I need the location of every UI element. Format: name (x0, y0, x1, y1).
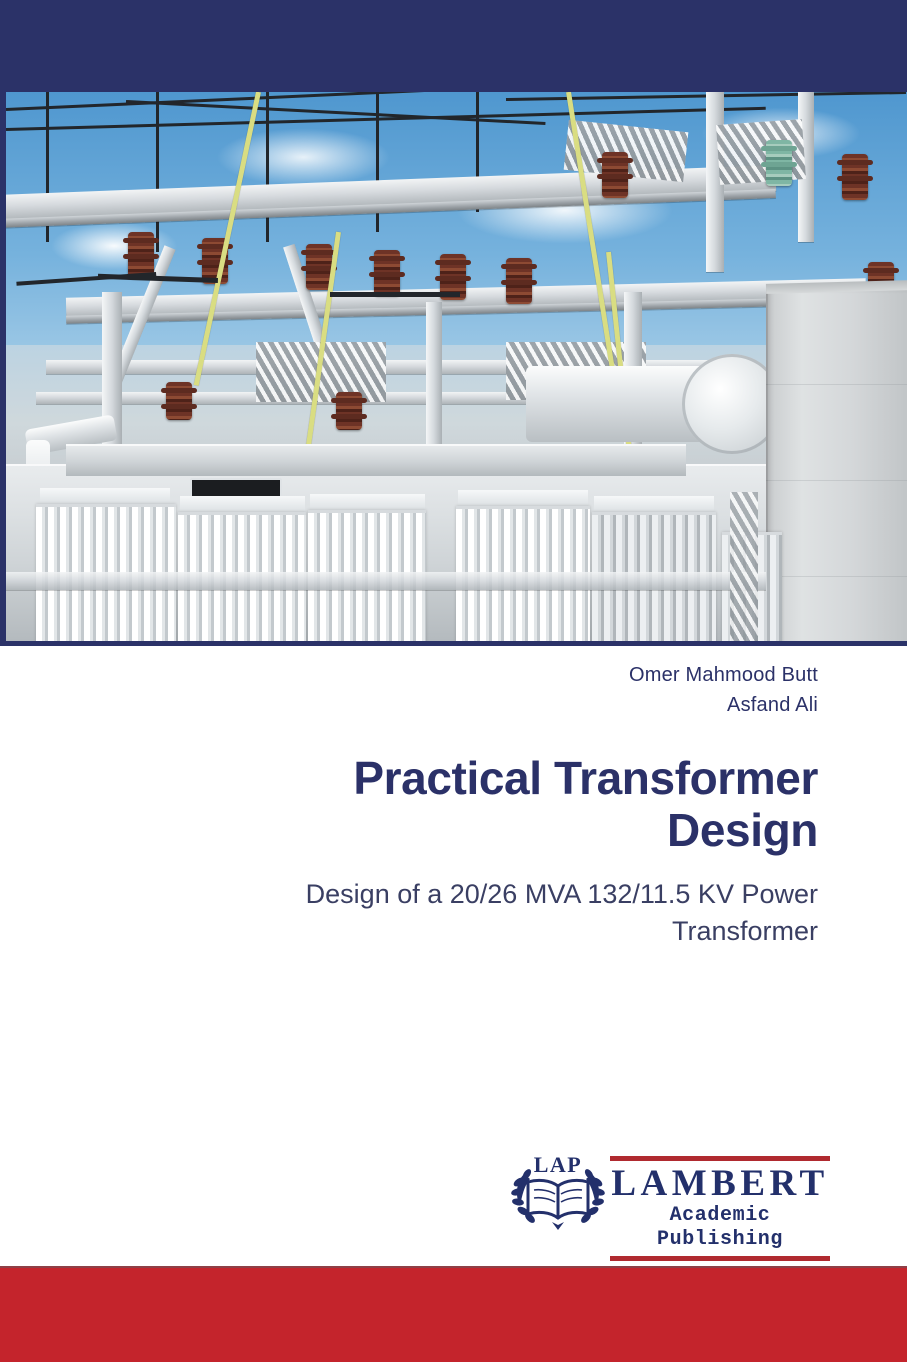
ceramic-insulator (166, 382, 192, 420)
lap-book-laurel-emblem: LAP (510, 1152, 606, 1232)
ceramic-insulator (374, 250, 400, 296)
lap-emblem-text: LAP (534, 1152, 583, 1177)
drop-lead (330, 292, 460, 297)
publisher-name: LAMBERT (610, 1164, 830, 1204)
cover-text-block: Omer Mahmood Butt Asfand Ali Practical T… (0, 660, 818, 950)
transformer-support-band (6, 572, 766, 590)
top-navy-band (0, 0, 907, 92)
tower-leg (266, 92, 269, 242)
bottom-red-band (0, 1266, 907, 1362)
book-subtitle: Design of a 20/26 MVA 132/11.5 KV Power … (0, 876, 818, 950)
cover-photo-frame (0, 88, 907, 646)
ceramic-insulator (336, 392, 362, 430)
ceramic-insulator (506, 258, 532, 304)
ceramic-insulator (128, 232, 154, 278)
book-subtitle-line-1: Design of a 20/26 MVA 132/11.5 KV Power (0, 876, 818, 913)
publisher-tagline: Academic Publishing (610, 1204, 830, 1252)
tower-leg (156, 92, 159, 252)
author-name: Omer Mahmood Butt (0, 660, 818, 690)
logo-red-bar-bottom (610, 1256, 830, 1261)
concrete-wall (766, 288, 907, 641)
ceramic-insulator-green (766, 140, 792, 186)
publisher-wordmark: LAMBERT Academic Publishing (610, 1156, 830, 1261)
logo-red-bar-top (610, 1156, 830, 1161)
ceramic-insulator (602, 152, 628, 198)
book-title: Practical Transformer Design (0, 752, 818, 856)
book-subtitle-line-2: Transformer (0, 913, 818, 950)
lattice-truss (716, 119, 806, 185)
transformer-tank-top (66, 444, 686, 476)
publisher-logo: LAP LAMBERT Academic Publishing (510, 1148, 830, 1236)
book-title-line-2: Design (0, 804, 818, 856)
cover-photo-substation (6, 92, 907, 641)
author-list: Omer Mahmood Butt Asfand Ali (0, 660, 818, 720)
author-name: Asfand Ali (0, 690, 818, 720)
book-title-line-1: Practical Transformer (0, 752, 818, 804)
access-ladder (730, 492, 758, 641)
ceramic-insulator (842, 154, 868, 200)
